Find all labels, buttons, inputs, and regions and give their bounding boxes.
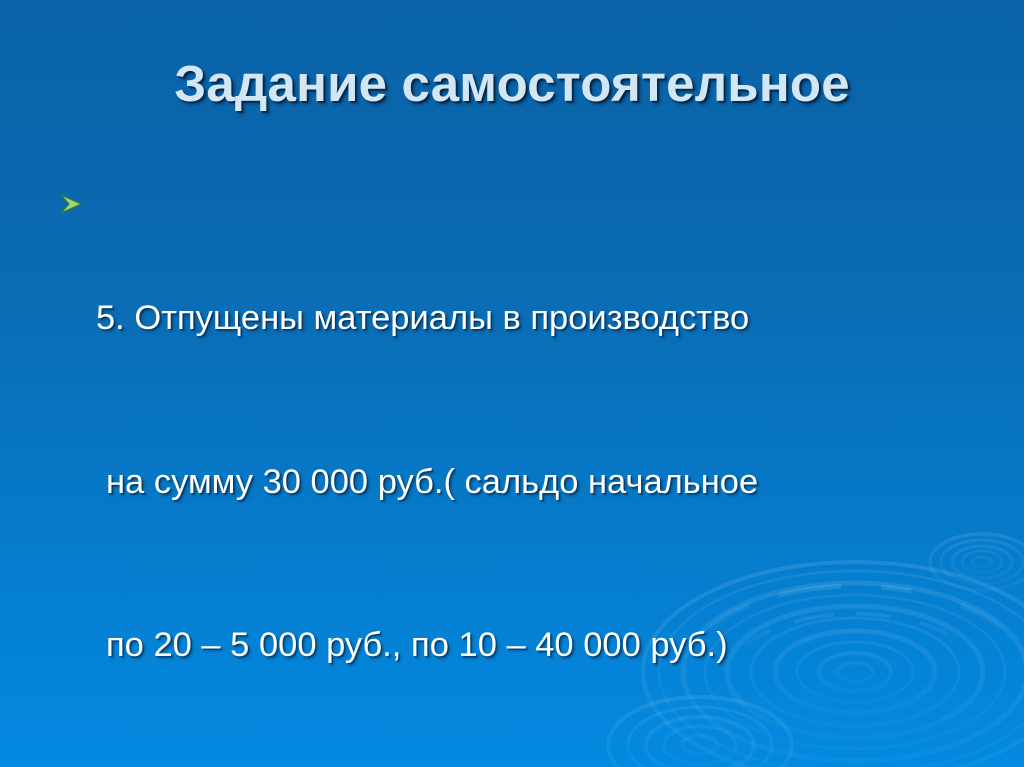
title-block: Задание самостоятельное xyxy=(0,54,1024,113)
slide: Задание самостоятельное 5. Отпущены мате… xyxy=(0,0,1024,767)
list-item-line: по 20 – 5 000 руб., по 10 – 40 000 руб.) xyxy=(96,618,978,673)
arrow-bullet-icon xyxy=(58,191,84,217)
content-body: 5. Отпущены материалы в производство на … xyxy=(58,182,978,767)
list-item-line: на сумму 30 000 руб.( сальдо начальное xyxy=(96,455,978,510)
list-item: 5. Отпущены материалы в производство на … xyxy=(58,182,978,767)
list-item-line: 5. Отпущены материалы в производство xyxy=(96,291,978,346)
page-title: Задание самостоятельное xyxy=(174,54,850,113)
list-item-text: 5. Отпущены материалы в производство на … xyxy=(96,182,978,767)
